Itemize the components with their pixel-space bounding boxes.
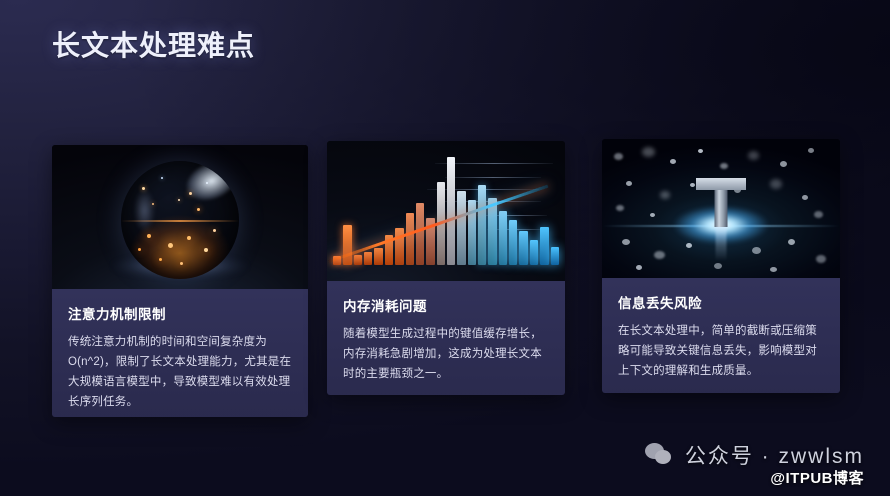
sphere-specular-highlight (169, 161, 239, 218)
card-title: 注意力机制限制 (68, 303, 292, 323)
card-text: 随着模型生成过程中的键值缓存增长，内存消耗急剧增加，这成为处理长文本时的主要瓶颈… (343, 324, 549, 384)
card-text: 在长文本处理中，简单的截断或压缩策略可能导致关键信息丢失，影响模型对上下文的理解… (618, 321, 824, 381)
wechat-icon (645, 442, 675, 468)
card-body: 内存消耗问题 随着模型生成过程中的键值缓存增长，内存消耗急剧增加，这成为处理长文… (327, 281, 565, 395)
watermark: 公众号 · zwwlsm (645, 440, 864, 470)
monolith-reflection (716, 225, 727, 261)
card-body: 信息丢失风险 在长文本处理中，简单的截断或压缩策略可能导致关键信息丢失，影响模型… (602, 278, 840, 393)
card-text: 传统注意力机制的时间和空间复杂度为O(n^2)，限制了长文本处理能力，尤其是在大… (68, 332, 292, 412)
page-title: 长文本处理难点 (52, 24, 255, 64)
card-attention-limit[interactable]: 注意力机制限制 传统注意力机制的时间和空间复杂度为O(n^2)，限制了长文本处理… (52, 145, 308, 417)
watermark-label: 公众号 · zwwlsm (685, 440, 864, 470)
card-list: 注意力机制限制 传统注意力机制的时间和空间复杂度为O(n^2)，限制了长文本处理… (0, 0, 890, 496)
card-memory-consumption[interactable]: 内存消耗问题 随着模型生成过程中的键值缓存增长，内存消耗急剧增加，这成为处理长文… (327, 141, 565, 395)
monolith-crossbar (696, 178, 746, 190)
watermark-sub-label: @ITPUB博客 (770, 467, 864, 488)
card-image-sphere (52, 145, 308, 289)
card-title: 信息丢失风险 (618, 292, 824, 312)
sphere-artwork (52, 145, 308, 289)
sphere-rim-light (130, 180, 158, 241)
card-image-monolith (602, 139, 840, 278)
slide-root: 长文本处理难点 (0, 0, 890, 496)
sphere-body (121, 161, 239, 279)
chart-artwork (327, 141, 565, 281)
card-image-chart (327, 141, 565, 281)
card-title: 内存消耗问题 (343, 295, 549, 315)
monolith-artwork (602, 139, 840, 278)
card-information-loss[interactable]: 信息丢失风险 在长文本处理中，简单的截断或压缩策略可能导致关键信息丢失，影响模型… (602, 139, 840, 393)
card-body: 注意力机制限制 传统注意力机制的时间和空间复杂度为O(n^2)，限制了长文本处理… (52, 289, 308, 417)
